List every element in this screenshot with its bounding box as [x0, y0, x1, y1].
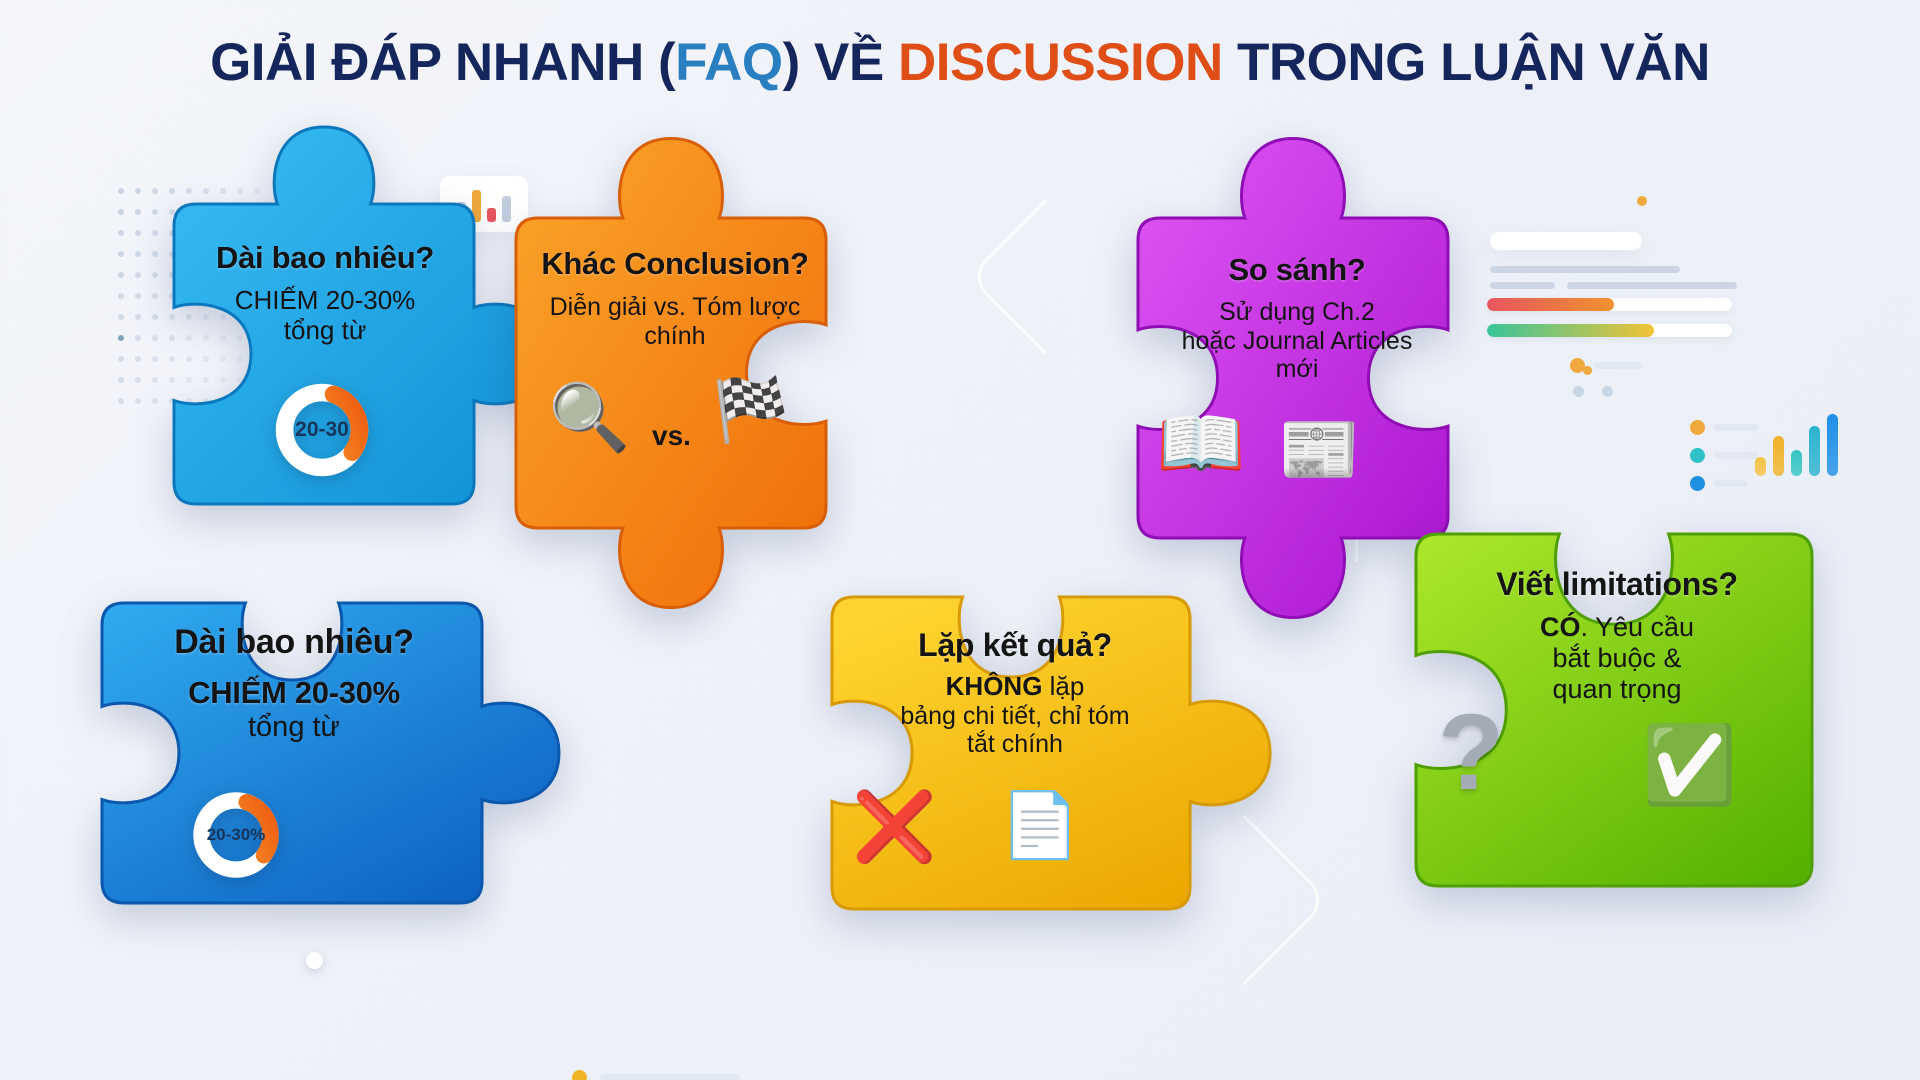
piece-subtitle-line-1: CHIẾM 20-30% — [78, 675, 510, 711]
piece-subtitle-line-2: bắt buộc & — [1392, 643, 1842, 674]
puzzle-piece-dai-bao-nhieu-1[interactable]: Dài bao nhiêu? CHIẾM 20-30% tổng từ 20-3… — [160, 162, 490, 522]
title-discussion: DISCUSSION — [898, 33, 1223, 92]
piece-subtitle-line-2: chính — [500, 322, 850, 351]
puzzle-piece-khac-conclusion[interactable]: Khác Conclusion? Diễn giải vs. Tóm lược … — [500, 172, 850, 572]
report-document-icon: 📄 — [1000, 793, 1080, 857]
red-cross-icon: ❌ — [852, 793, 937, 861]
mini-bar-chart-decoration — [1755, 410, 1838, 476]
gauge-20-30: 20-30 — [270, 378, 374, 482]
piece-title: Dài bao nhiêu? — [160, 240, 490, 276]
accent-dot-decoration-3 — [306, 952, 323, 969]
piece-subtitle-bold: CÓ — [1540, 612, 1581, 642]
piece-subtitle-rest: lặp — [1042, 671, 1084, 701]
checkered-flag-icon: 🏁 — [712, 380, 789, 442]
title-part-1: GIẢI ĐÁP NHANH ( — [210, 33, 675, 92]
piece-subtitle-line-3: tắt chính — [810, 730, 1220, 759]
piece-subtitle-line-1: CHIẾM 20-30% — [160, 286, 490, 316]
skeleton-panel-decoration — [1490, 232, 1800, 319]
piece-subtitle-line-3: mới — [1122, 355, 1472, 384]
magnifier-icon: 🔍 — [548, 384, 630, 450]
piece-subtitle-line-1: Diễn giải vs. Tóm lược — [500, 293, 850, 322]
piece-subtitle-line-2: tổng từ — [160, 316, 490, 346]
question-mark-icon: ? — [1438, 698, 1504, 806]
piece-title: Lặp kết quả? — [810, 627, 1220, 664]
puzzle-piece-viet-limitations[interactable]: Viết limitations? CÓ. Yêu cầu bắt buộc &… — [1392, 490, 1842, 920]
page-title: GIẢI ĐÁP NHANH (FAQ) VỀ DISCUSSION TRONG… — [0, 32, 1920, 93]
legend-cluster-decoration — [1570, 358, 1642, 397]
piece-title: Khác Conclusion? — [500, 246, 850, 282]
piece-subtitle-line-1: Sử dụng Ch.2 — [1122, 298, 1472, 327]
gauge-20-30-percent: 20-30% — [188, 787, 284, 883]
accent-dot-decoration-2 — [1583, 366, 1592, 375]
piece-subtitle-line-2: hoặc Journal Articles — [1122, 327, 1472, 356]
title-faq: FAQ — [675, 33, 782, 92]
newspaper-icon: 📰 — [1278, 416, 1360, 482]
glow-line-decoration-1 — [967, 199, 1123, 355]
open-book-icon: 📖 — [1156, 408, 1246, 480]
piece-subtitle-rest: . Yêu cầu — [1580, 612, 1694, 642]
piece-title: Dài bao nhiêu? — [78, 623, 510, 662]
piece-subtitle-line-2: bảng chi tiết, chỉ tóm — [810, 702, 1220, 731]
title-part-3: TRONG LUẬN VĂN — [1223, 33, 1710, 92]
piece-title: So sánh? — [1122, 252, 1472, 288]
vs-label: vs. — [652, 420, 691, 452]
piece-subtitle-line-2: tổng từ — [78, 711, 510, 744]
piece-subtitle-bold: KHÔNG — [946, 671, 1043, 701]
puzzle-piece-lap-ket-qua[interactable]: Lặp kết quả? KHÔNG lặp bảng chi tiết, ch… — [810, 555, 1220, 937]
progress-bars-decoration — [1487, 298, 1732, 350]
list-skeleton-decoration — [572, 1070, 740, 1080]
puzzle-piece-dai-bao-nhieu-2[interactable]: Dài bao nhiêu? CHIẾM 20-30% tổng từ 20-3… — [78, 565, 510, 935]
accent-dot-decoration-1 — [1637, 196, 1647, 206]
check-badge-icon: ✅ — [1642, 728, 1737, 804]
piece-title: Viết limitations? — [1392, 566, 1842, 603]
title-part-2: ) VỀ — [783, 33, 898, 92]
gauge-label: 20-30 — [270, 378, 374, 482]
gauge-label: 20-30% — [188, 787, 284, 883]
